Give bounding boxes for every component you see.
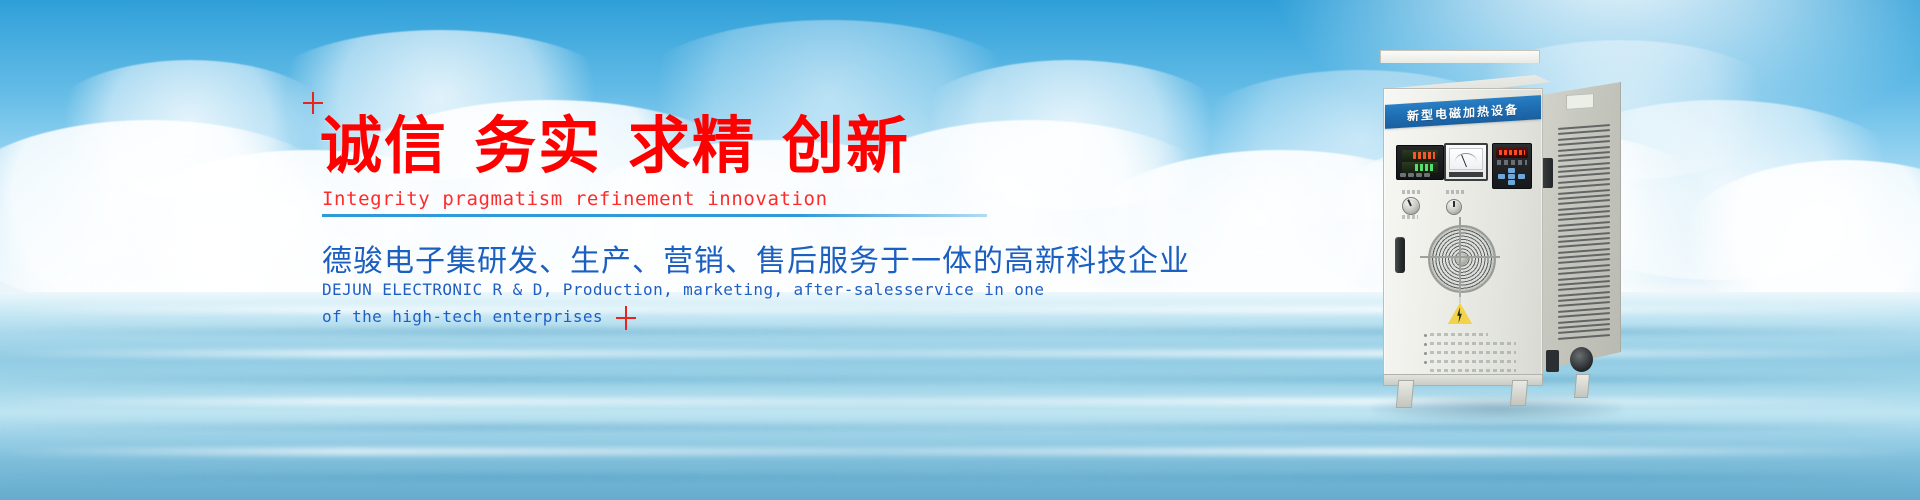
side-ventilation-slots (1558, 124, 1610, 340)
promo-banner: 诚信务实求精创新 Integrity pragmatism refinement… (0, 0, 1920, 500)
company-description-english-line-1: DEJUN ELECTRONIC R & D, Production, mark… (322, 276, 1044, 303)
decorative-plus-icon (303, 92, 323, 114)
knob-label-right (1446, 190, 1464, 194)
product-image-induction-heater: 新型电磁加热设备 (1380, 60, 1640, 420)
specification-text-block (1430, 333, 1516, 371)
knob-label-left (1402, 190, 1422, 194)
product-nameplate: 新型电磁加热设备 (1385, 95, 1541, 129)
machine-front-top-edge (1380, 50, 1540, 63)
company-description-english-line-2: of the high-tech enterprises (322, 303, 1044, 330)
side-latch (1542, 158, 1553, 188)
headline-slogan: 诚信务实求精创新 (320, 116, 910, 178)
control-panel (1396, 143, 1530, 187)
side-spec-label (1566, 93, 1594, 110)
adjust-knob[interactable] (1446, 199, 1462, 215)
fan-grille-cross (1420, 217, 1500, 297)
machine-legs (1383, 380, 1615, 412)
selector-knob-label (1402, 215, 1418, 219)
digital-temperature-controller[interactable] (1396, 145, 1444, 180)
selector-knob[interactable] (1402, 197, 1420, 215)
lower-port-panel (1546, 346, 1608, 374)
company-description-chinese: 德骏电子集研发、生产、营销、售后服务于一体的高新科技企业 (322, 236, 1190, 280)
high-voltage-warning-label (1448, 303, 1472, 325)
analog-ammeter (1444, 143, 1488, 181)
headline-slogan-english: Integrity pragmatism refinement innovati… (322, 188, 828, 210)
machine-front-panel: 新型电磁加热设备 (1383, 88, 1543, 386)
divider-rule (322, 214, 987, 217)
control-keypad[interactable] (1492, 143, 1532, 189)
door-handle[interactable] (1395, 237, 1405, 273)
banner-copy: 诚信务实求精创新 Integrity pragmatism refinement… (0, 0, 1100, 500)
company-description-english: DEJUN ELECTRONIC R & D, Production, mark… (322, 276, 1044, 330)
